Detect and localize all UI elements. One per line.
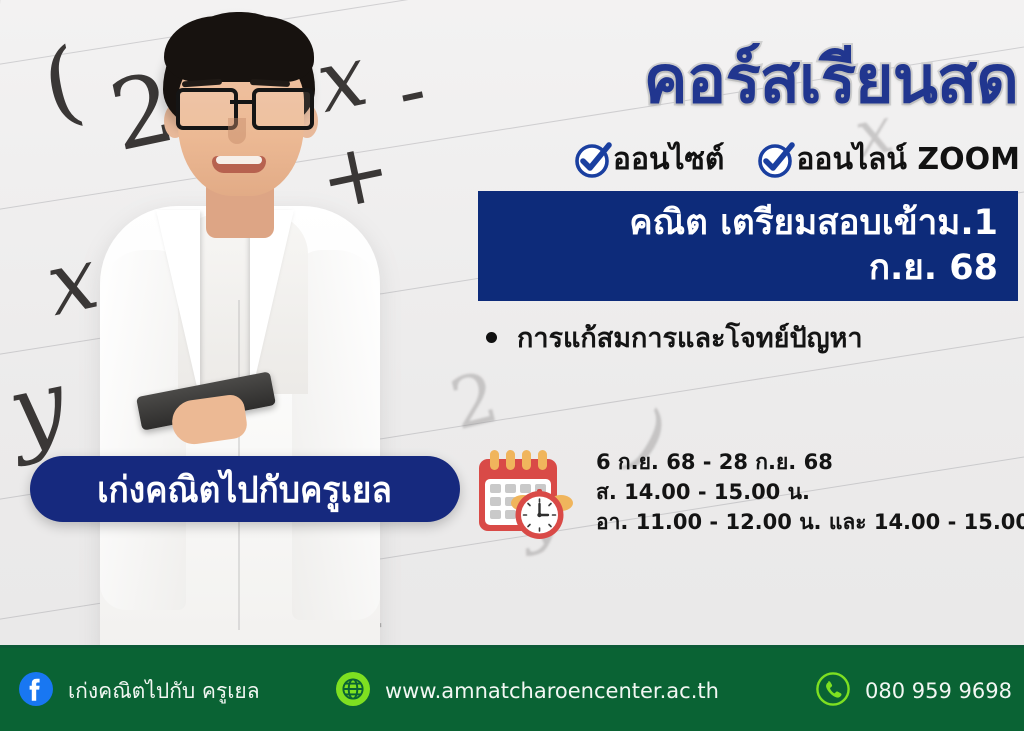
- schedule-saturday: ส. 14.00 - 15.00 น.: [596, 478, 1016, 508]
- glasses-icon: [174, 88, 308, 122]
- lapel-left: [156, 210, 200, 400]
- nose: [228, 118, 246, 144]
- calendar-clock-icon: [473, 445, 577, 541]
- tagline-badge: เก่งคณิตไปกับครูเยล: [30, 456, 460, 522]
- course-month: ก.ย. 68: [478, 246, 998, 291]
- glasses-bridge: [230, 100, 252, 104]
- poster-canvas: ( 2 x - + x y x 2 ( y x คอร์สเร: [0, 0, 1024, 731]
- mode-onsite[interactable]: ออนไซต์: [575, 136, 724, 183]
- mode-label: ออนไลน์ ZOOM: [796, 136, 1020, 183]
- phone-label: 080 959 9698: [865, 679, 1012, 703]
- contact-footer: เก่งคณิตไปกับ ครูเยล www.amnatcharoencen…: [0, 645, 1024, 731]
- teeth: [216, 156, 262, 164]
- schedule-block: 6 ก.ย. 68 - 28 ก.ย. 68 ส. 14.00 - 15.00 …: [596, 448, 1016, 537]
- mode-online-zoom[interactable]: ออนไลน์ ZOOM: [758, 136, 1020, 183]
- bullet-dot-icon: [486, 332, 497, 343]
- course-banner: คณิต เตรียมสอบเข้าม.1 ก.ย. 68: [478, 191, 1018, 301]
- footer-facebook[interactable]: เก่งคณิตไปกับ ครูเยล: [18, 671, 260, 712]
- facebook-icon: [18, 671, 54, 712]
- globe-icon: [335, 671, 371, 712]
- mode-list: ออนไซต์ ออนไลน์ ZOOM: [460, 136, 1020, 183]
- lapel-right: [250, 210, 294, 400]
- glasses-lens-right: [252, 88, 314, 130]
- topic-list-item: การแก้สมการและโจทย์ปัญหา: [486, 316, 1020, 359]
- check-circle-icon: [758, 143, 792, 177]
- schedule-sunday: อา. 11.00 - 12.00 น. และ 14.00 - 15.00 น…: [596, 508, 1016, 538]
- footer-website[interactable]: www.amnatcharoencenter.ac.th: [335, 671, 719, 712]
- schedule-date-range: 6 ก.ย. 68 - 28 ก.ย. 68: [596, 448, 1016, 478]
- tagline-label: เก่งคณิตไปกับครูเยล: [98, 461, 393, 518]
- instructor-photo: [60, 0, 390, 660]
- course-title: คณิต เตรียมสอบเข้าม.1: [478, 201, 998, 246]
- check-circle-icon: [575, 143, 609, 177]
- mode-label: ออนไซต์: [613, 136, 724, 183]
- hair-fringe: [164, 16, 314, 82]
- footer-phone[interactable]: 080 959 9698: [815, 671, 1012, 712]
- website-label: www.amnatcharoencenter.ac.th: [385, 679, 719, 703]
- topic-label: การแก้สมการและโจทย์ปัญหา: [517, 316, 863, 359]
- phone-icon: [815, 671, 851, 712]
- page-title: คอร์สเรียนสด: [440, 46, 1018, 113]
- mouth: [212, 156, 266, 173]
- facebook-label: เก่งคณิตไปกับ ครูเยล: [68, 675, 260, 708]
